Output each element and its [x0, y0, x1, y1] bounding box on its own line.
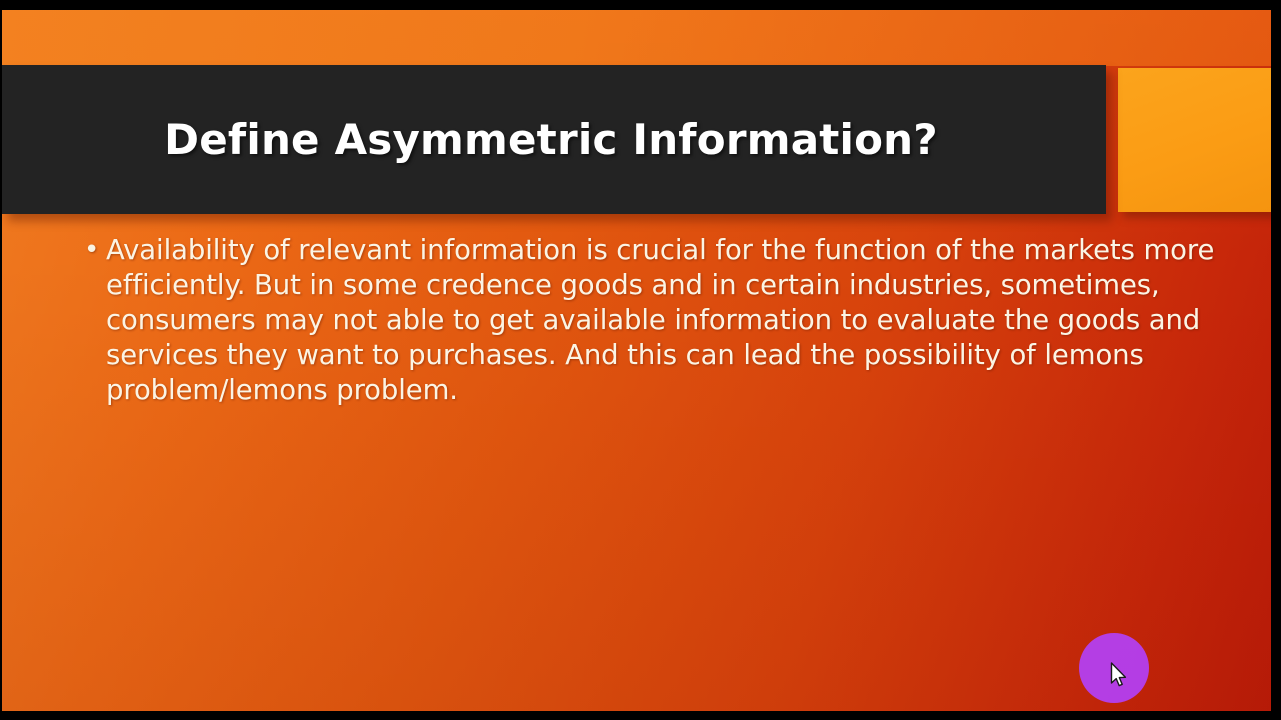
bullet-dot-icon: • — [80, 233, 106, 268]
header-accent-block — [1118, 68, 1271, 212]
video-frame: Define Asymmetric Information? • Availab… — [0, 0, 1281, 720]
page-title: Define Asymmetric Information? — [164, 115, 938, 164]
presentation-slide: Define Asymmetric Information? • Availab… — [2, 10, 1271, 711]
mouse-pointer-icon — [1110, 662, 1128, 688]
slide-body: • Availability of relevant information i… — [80, 233, 1271, 408]
slide-title-bar: Define Asymmetric Information? — [2, 65, 1106, 214]
bullet-item-text: Availability of relevant information is … — [106, 233, 1271, 408]
bullet-item: • Availability of relevant information i… — [80, 233, 1271, 408]
header-orange-band — [2, 10, 1271, 66]
